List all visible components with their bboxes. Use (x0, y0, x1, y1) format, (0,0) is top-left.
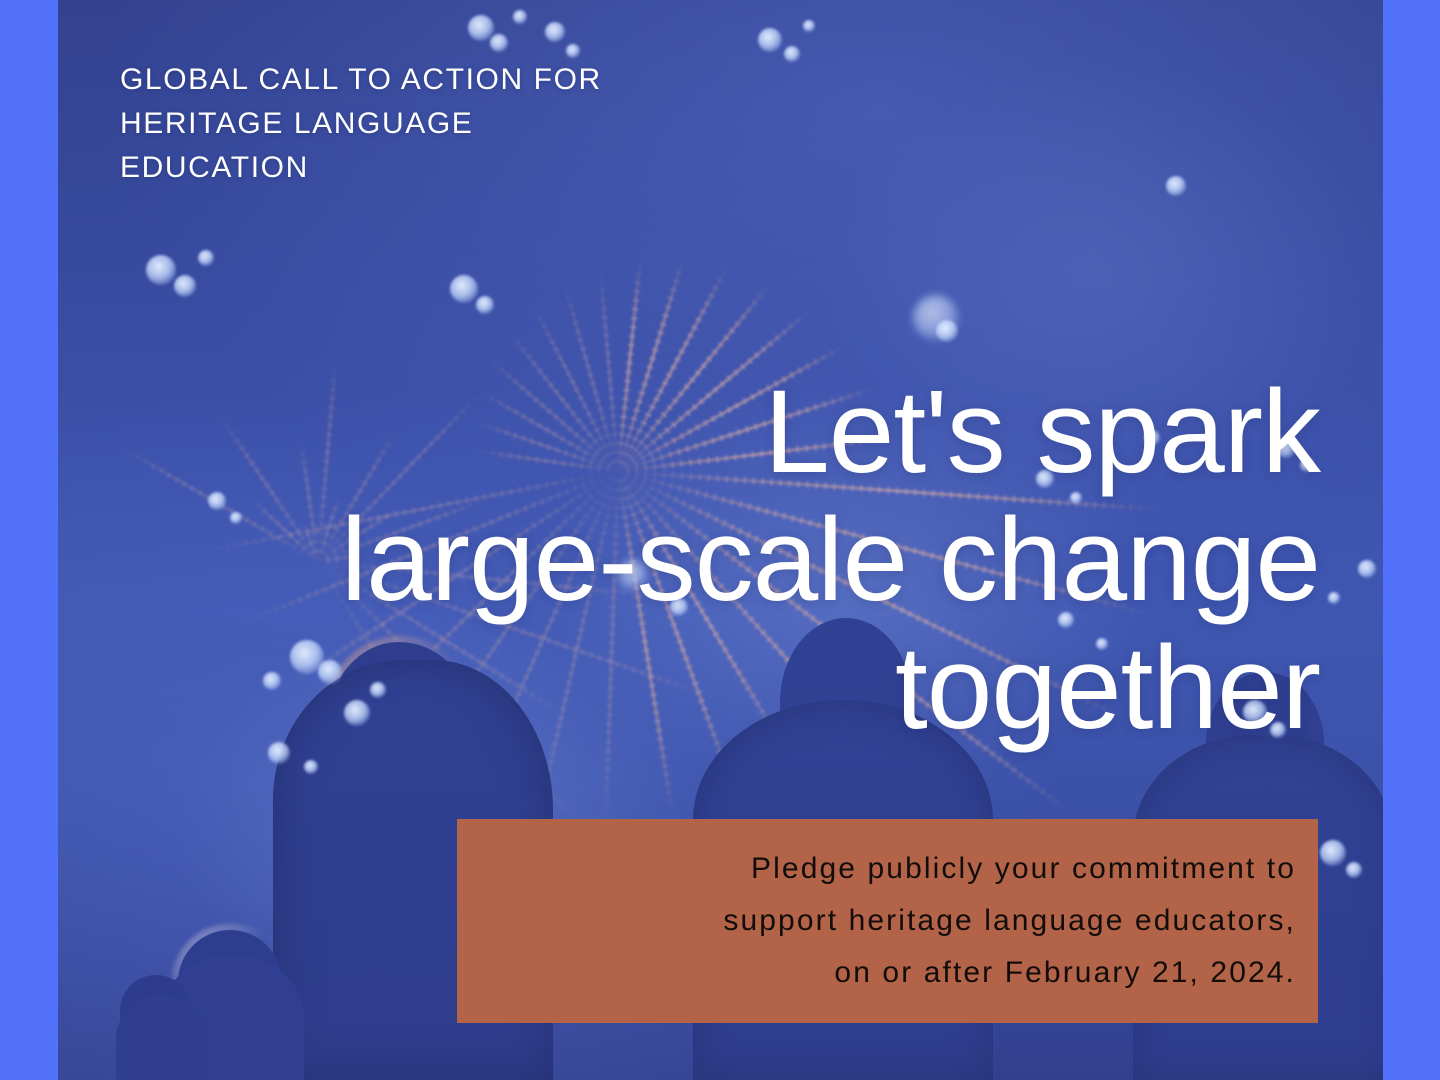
firework-sparkle (1320, 840, 1346, 866)
firework-sparkle (490, 34, 508, 52)
silhouette-rim-light-small (172, 924, 290, 1040)
firework-sparkle (758, 28, 782, 52)
firework-sparkle (146, 255, 176, 285)
poster-canvas: GLOBAL CALL TO ACTION FOR HERITAGE LANGU… (0, 0, 1440, 1080)
firework-sparkle (304, 760, 318, 774)
firework-sparkle (174, 275, 196, 297)
silhouette-person-child-far (116, 995, 208, 1080)
firework-sparkle (513, 10, 527, 24)
caption-text: Pledge publicly your commitment to suppo… (723, 843, 1318, 999)
firework-sparkle (803, 20, 815, 32)
page-title: Let's spark large-scale change together (240, 368, 1320, 752)
kicker-heading: GLOBAL CALL TO ACTION FOR HERITAGE LANGU… (120, 58, 602, 190)
firework-sparkle (1358, 560, 1376, 578)
silhouette-person-child (162, 955, 304, 1080)
firework-sparkle (198, 250, 214, 266)
firework-sparkle (1346, 862, 1362, 878)
caption-card: Pledge publicly your commitment to suppo… (457, 819, 1318, 1023)
firework-sparkle (208, 492, 226, 510)
firework-sparkle (450, 275, 478, 303)
firework-sparkle (1328, 592, 1340, 604)
silhouette-head-child (178, 930, 282, 1034)
firework-sparkle (936, 320, 958, 342)
firework-sparkle (913, 295, 959, 341)
firework-sparkle (545, 22, 565, 42)
firework-sparkle (784, 46, 800, 62)
silhouette-head-child-far (120, 975, 192, 1049)
firework-sparkle (566, 44, 580, 58)
firework-sparkle (476, 296, 494, 314)
firework-sparkle (468, 15, 494, 41)
firework-sparkle (1166, 176, 1186, 196)
